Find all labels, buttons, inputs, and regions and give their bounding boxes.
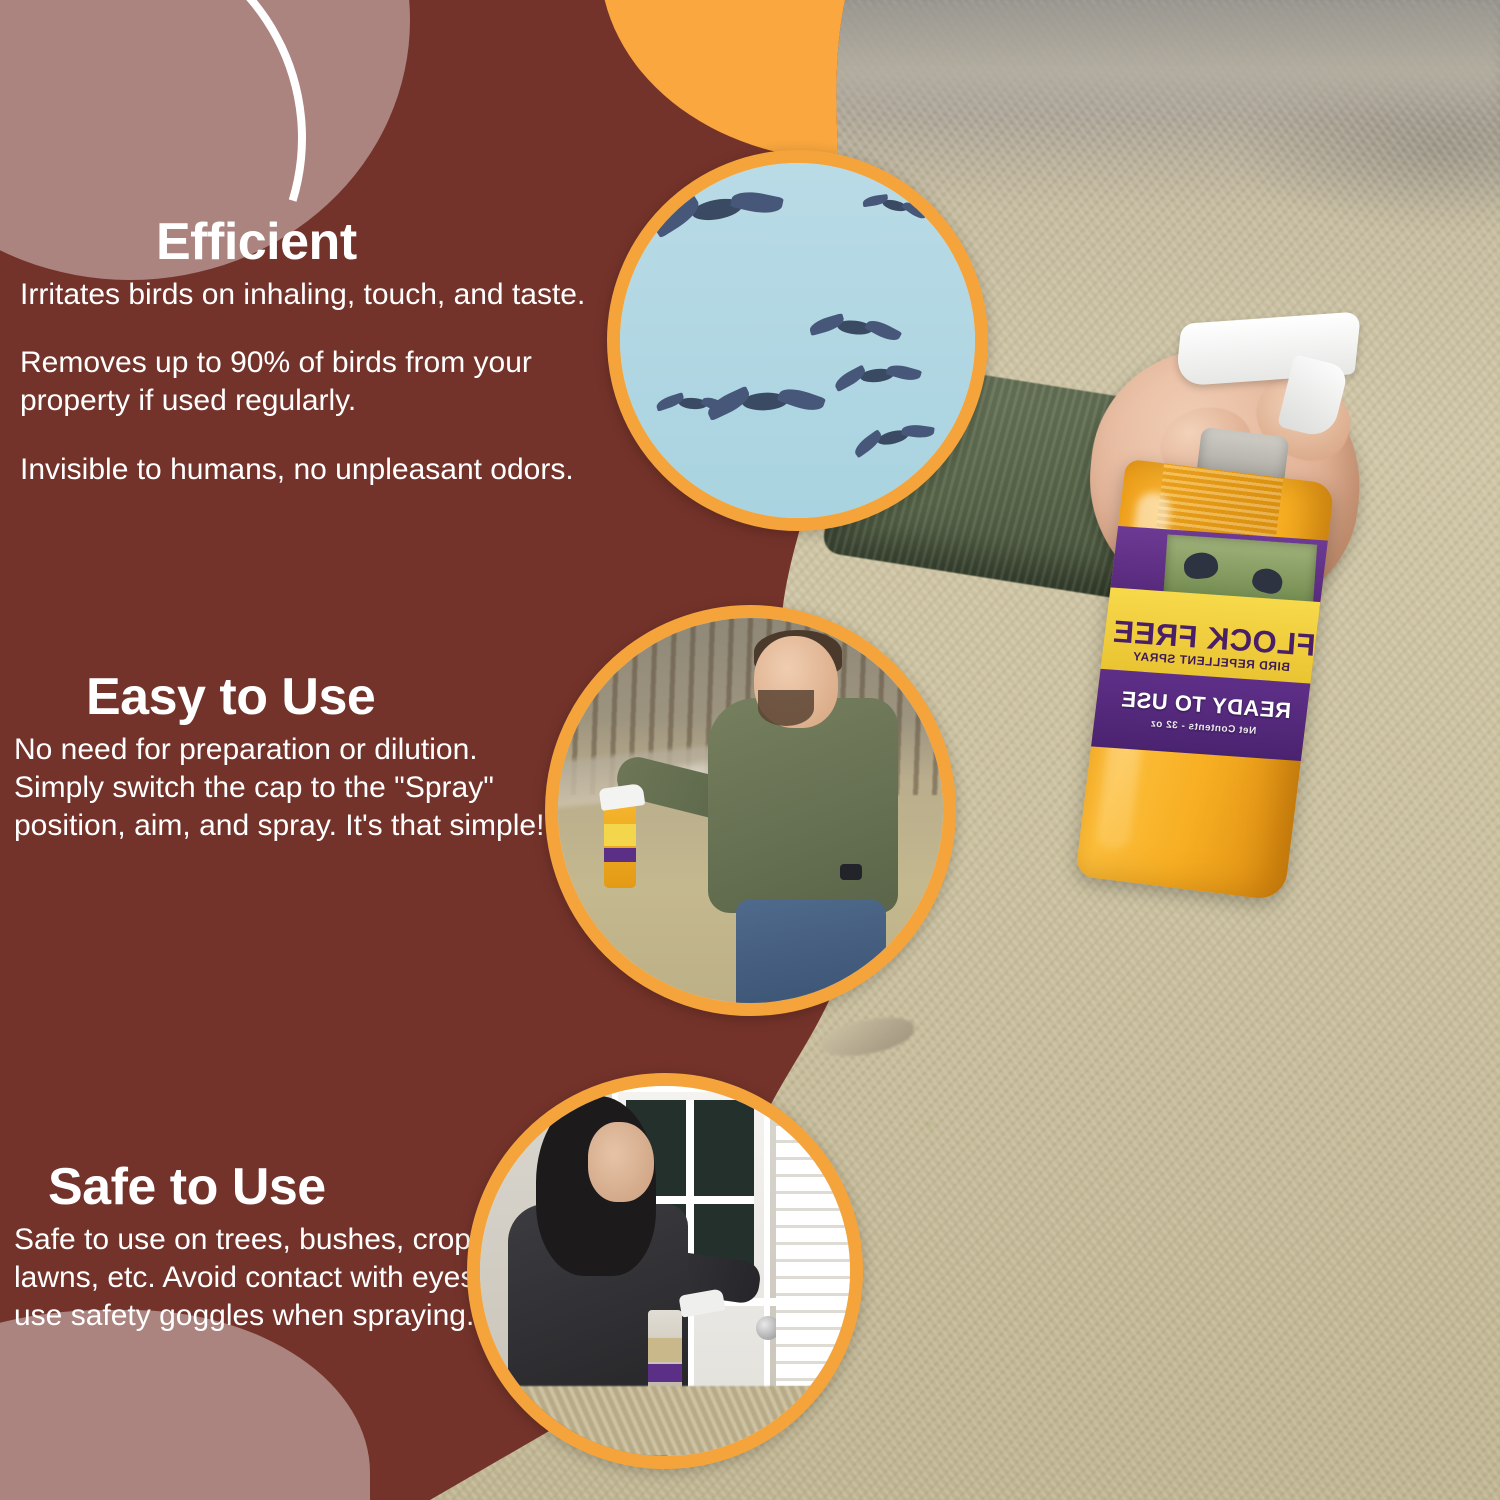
held-bottle-label	[648, 1338, 682, 1362]
feature-easy-paragraph-1: No need for preparation or dilution. Sim…	[14, 731, 574, 846]
wristwatch	[840, 864, 862, 880]
feature-safe-to-use: Safe to Use Safe to use on trees, bushes…	[14, 1160, 534, 1336]
held-bottle	[604, 804, 636, 888]
feature-efficient: Efficient Irritates birds on inhaling, t…	[20, 215, 590, 489]
feature-efficient-heading: Efficient	[156, 215, 590, 270]
woman-face	[588, 1122, 654, 1202]
feature-efficient-paragraph-1: Irritates birds on inhaling, touch, and …	[20, 276, 590, 314]
house-siding	[776, 1126, 863, 1386]
feature-safe-paragraph-1: Safe to use on trees, bushes, crops, law…	[14, 1221, 534, 1336]
man-torso	[708, 698, 898, 913]
feature-efficient-paragraph-3: Invisible to humans, no unpleasant odors…	[20, 451, 590, 489]
held-bottle-label	[604, 824, 636, 846]
photo-circle-man-spraying	[545, 605, 956, 1016]
man-jeans	[736, 900, 886, 1010]
infographic-canvas: FLOCK FREE BIRD REPELLENT SPRAY READY TO…	[0, 0, 1500, 1500]
photo-circle-birds	[607, 150, 988, 531]
feature-efficient-paragraph-2: Removes up to 90% of birds from your pro…	[20, 344, 590, 421]
held-bottle-label-purple	[648, 1364, 682, 1382]
mulch-bed	[480, 1386, 850, 1456]
feature-safe-heading: Safe to Use	[48, 1160, 534, 1215]
gravel-path	[780, 0, 1500, 120]
feature-easy-heading: Easy to Use	[86, 670, 574, 725]
held-bottle-label-purple	[604, 848, 636, 862]
mauve-blob-bottom-left	[0, 1310, 370, 1500]
photo-circle-woman-spraying	[467, 1073, 863, 1469]
man-beard	[758, 690, 814, 726]
feature-easy-to-use: Easy to Use No need for preparation or d…	[14, 670, 574, 846]
